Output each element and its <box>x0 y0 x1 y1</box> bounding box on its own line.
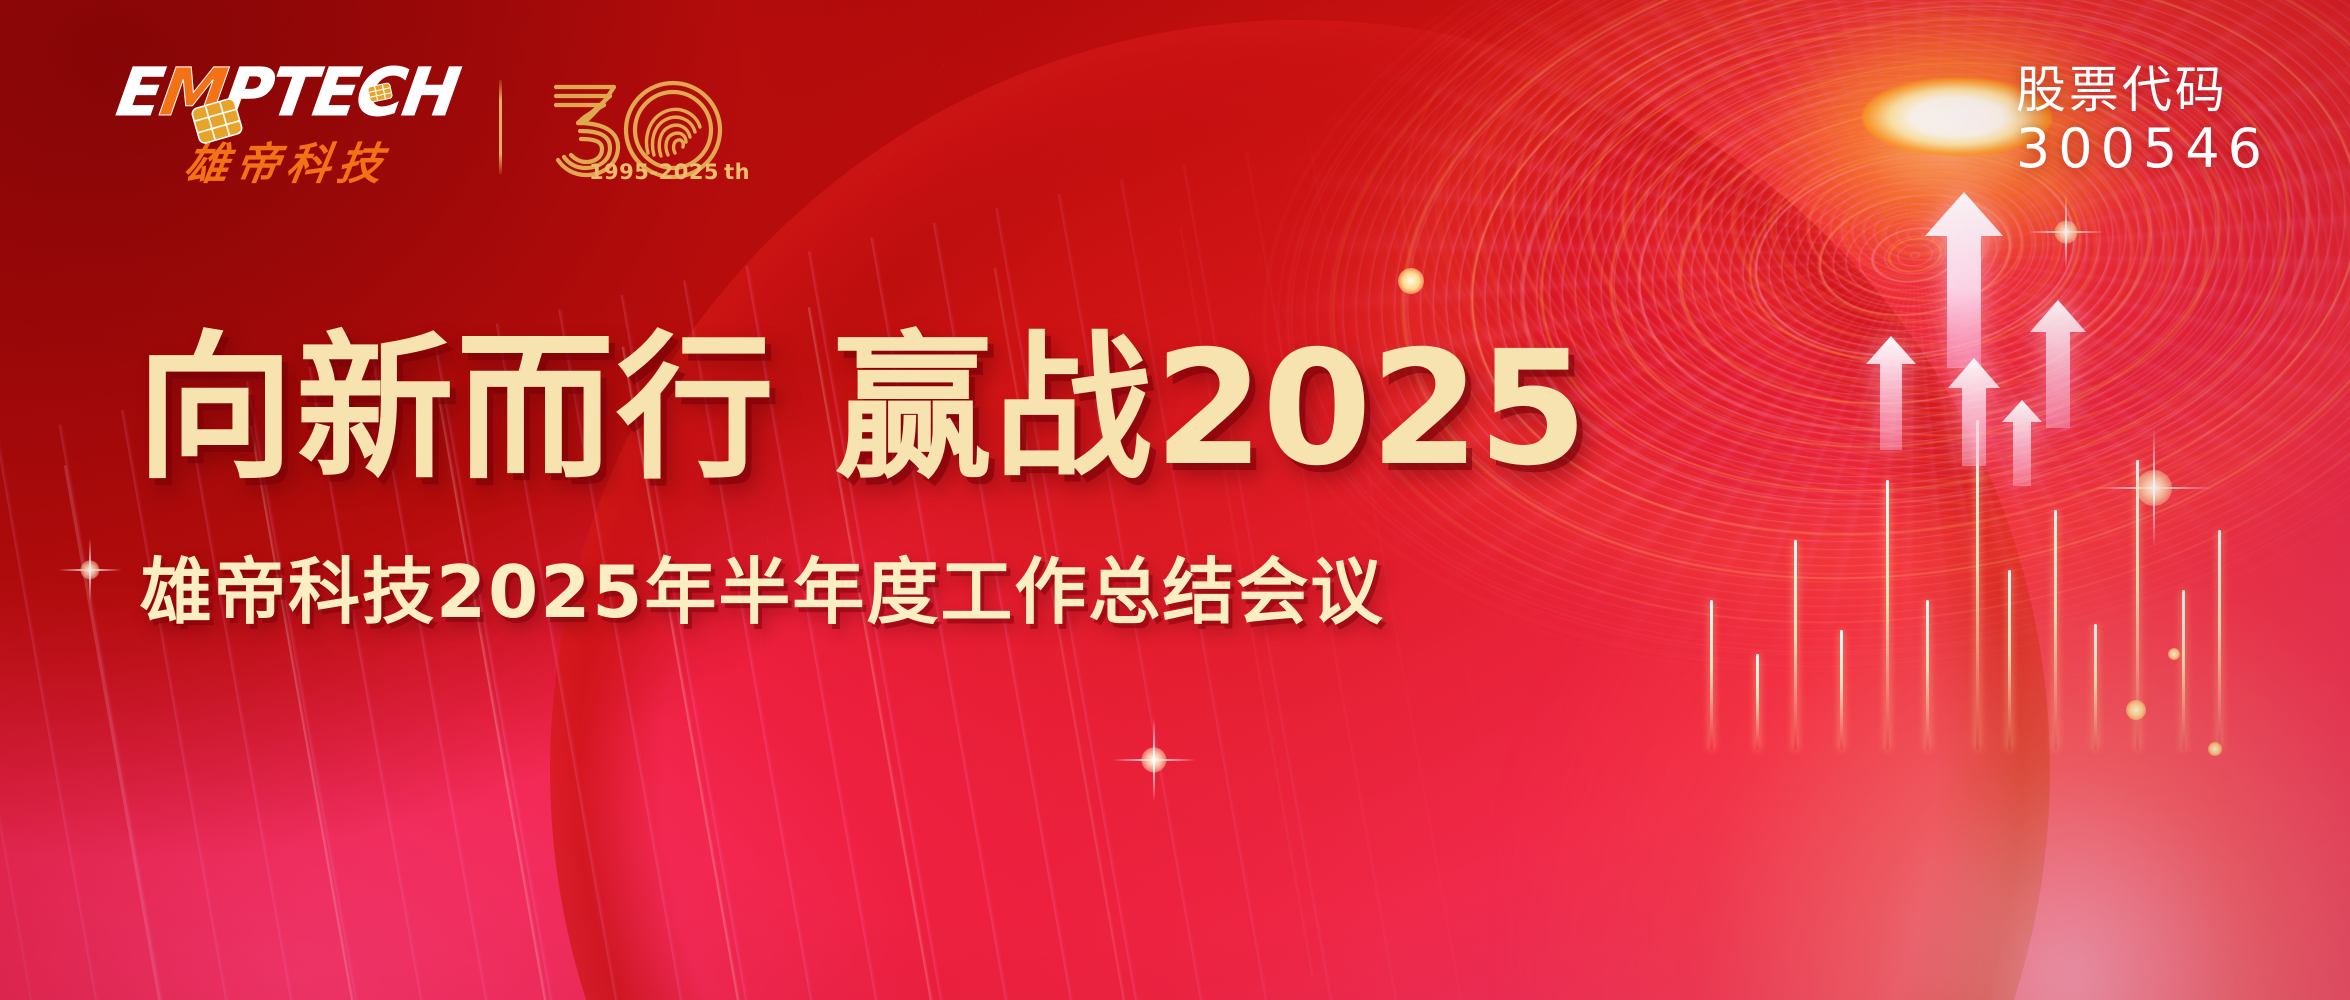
anniversary-years: 1995-2025th <box>584 160 750 184</box>
emptech-wordmark: EMPTECH <box>113 62 462 125</box>
emptech-logo: EMPTECH 雄帝科技 <box>118 62 457 192</box>
conference-banner: EMPTECH 雄帝科技 <box>0 0 2350 1000</box>
logo-lockup: EMPTECH 雄帝科技 <box>118 62 724 192</box>
emptech-chinese-name: 雄帝科技 <box>113 128 462 192</box>
emptech-wordmark-after: PTECH <box>219 54 463 131</box>
anniversary-suffix: th <box>724 160 750 184</box>
stock-code-block: 股票代码 300546 <box>2016 62 2270 178</box>
headline-year: 2025 <box>1154 330 1586 488</box>
stock-code-value: 300546 <box>2016 120 2270 178</box>
subtitle: 雄帝科技2025年半年度工作总结会议 <box>140 556 1384 628</box>
anniversary-year-range: 1995-2025 <box>589 160 719 184</box>
headline: 向新而行 赢战 2025 <box>136 330 1586 488</box>
headline-part1: 向新而行 <box>136 330 776 488</box>
headline-part2: 赢战 <box>834 330 1154 488</box>
stock-code-label: 股票代码 <box>2016 62 2270 118</box>
logo-divider <box>499 80 502 174</box>
anniversary-emblem: 1995-2025th <box>544 67 724 187</box>
banner-content: EMPTECH 雄帝科技 <box>0 0 2350 1000</box>
